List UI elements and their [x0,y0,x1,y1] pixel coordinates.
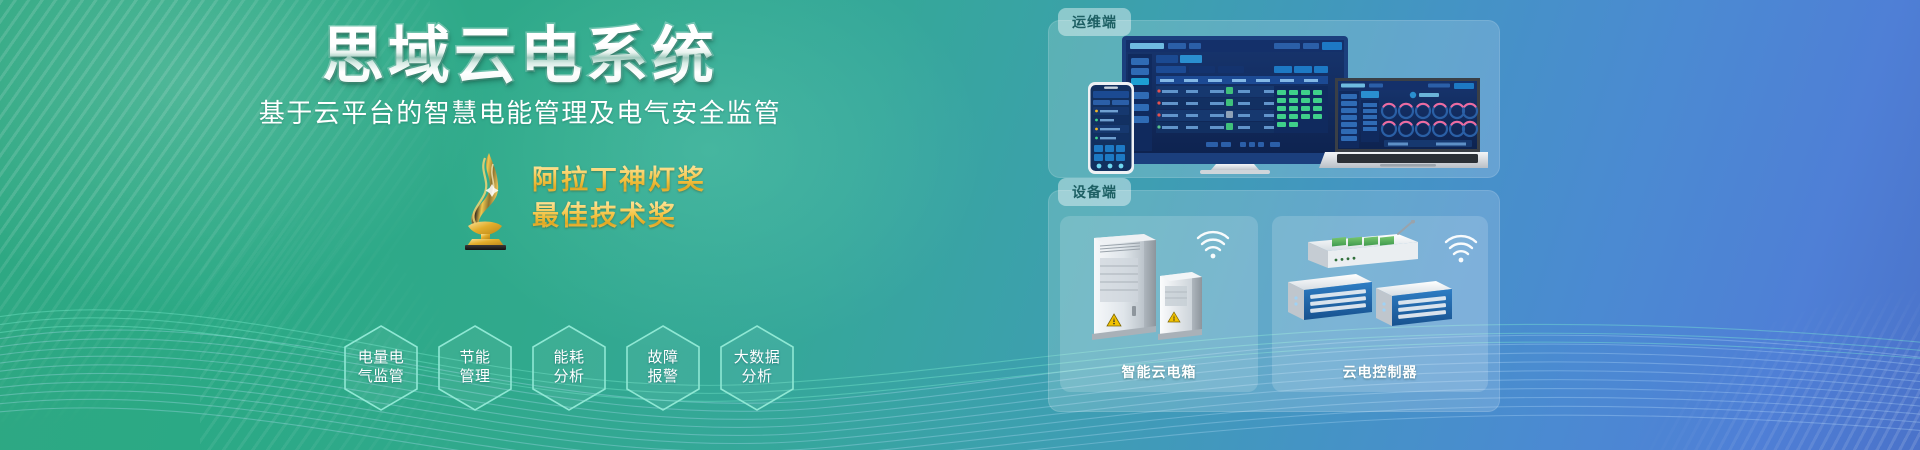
badge-line-1: 故障 [647,349,678,368]
badge-line-1: 节能 [459,349,490,368]
device-panel: 设备端 [1048,190,1500,412]
wifi-icon [1198,232,1228,250]
banner-left-content: 思域云电系统 思域云电系统 基于云平台的智慧电能管理及电气安全监管 [0,0,1040,450]
award-block: 阿拉丁神灯奖 最佳技术奖 [440,150,770,250]
smart-cabinet-icon [1060,220,1258,352]
badge-line-2: 管理 [459,368,490,387]
badge-line-2: 分析 [741,368,772,387]
desktop-monitor-dashboard [1122,36,1348,174]
badge-consumption-analysis[interactable]: 能耗 分析 [530,324,608,412]
device-panel-tag: 设备端 [1058,178,1131,206]
controller-left [1288,274,1372,320]
trophy-icon [448,150,522,250]
badge-label: 能耗 分析 [530,324,608,412]
feature-badges: 电量电 气监管 节能 管理 能耗 分析 [342,324,796,412]
laptop-gauge-dashboard [1319,78,1488,168]
ops-panel: 运维端 [1048,20,1500,178]
wifi-icon [1446,236,1476,254]
badge-line-1: 大数据 [734,349,781,368]
device-card-smart-cabinet[interactable]: 智能云电箱 [1060,216,1258,392]
badge-fault-alarm[interactable]: 故障 报警 [624,324,702,412]
badge-line-1: 能耗 [553,349,584,368]
page-subtitle: 基于云平台的智慧电能管理及电气安全监管 [0,93,1040,130]
badge-big-data-analysis[interactable]: 大数据 分析 [718,324,796,412]
award-line-1: 阿拉丁神灯奖 [532,163,706,199]
cloud-controller-icon [1272,220,1488,352]
device-caption: 智能云电箱 [1060,362,1258,382]
badge-line-2: 气监管 [358,368,405,387]
badge-energy-saving[interactable]: 节能 管理 [436,324,514,412]
award-line-2: 最佳技术奖 [532,199,706,235]
controller-right [1376,281,1452,326]
controller-top [1308,220,1418,268]
cabinet-small [1158,272,1202,340]
cabinet-large [1092,234,1156,340]
award-text: 阿拉丁神灯奖 最佳技术奖 [532,163,706,234]
badge-electricity-supervision[interactable]: 电量电 气监管 [342,324,420,412]
device-card-cloud-controller[interactable]: 云电控制器 [1272,216,1488,392]
diagonal-hatch-right [1570,250,1920,450]
badge-label: 大数据 分析 [718,324,796,412]
badge-label: 电量电 气监管 [342,324,420,412]
banner-right-content: 运维端 [1048,20,1500,430]
badge-line-1: 电量电 [358,349,405,368]
badge-line-2: 分析 [553,368,584,387]
page-title: 思域云电系统 [0,24,1040,89]
badge-label: 故障 报警 [624,324,702,412]
ops-devices-illustration [1088,30,1488,175]
badge-line-2: 报警 [647,368,678,387]
phone-dashboard [1088,82,1134,174]
device-caption: 云电控制器 [1272,362,1488,382]
badge-label: 节能 管理 [436,324,514,412]
promo-banner: 思域云电系统 思域云电系统 基于云平台的智慧电能管理及电气安全监管 [0,0,1920,450]
